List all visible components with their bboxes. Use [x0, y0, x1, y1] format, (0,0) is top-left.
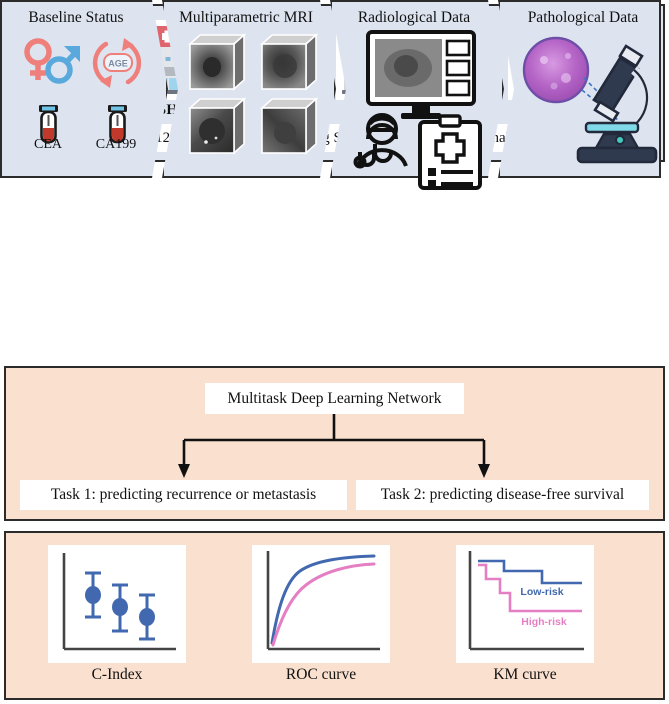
result-card-km: Low-risk High-risk	[456, 545, 594, 663]
clipboard-icon	[420, 116, 480, 188]
c-index-chart	[48, 545, 186, 663]
mri-cube-icon	[262, 99, 316, 153]
network-panel: Multitask Deep Learning Network Task 1: …	[4, 366, 665, 521]
doctor-icon	[356, 115, 407, 167]
result-card-roc	[252, 545, 390, 663]
results-panel: C-Index ROC curve Low-risk High-risk KM …	[4, 531, 665, 700]
result-label-roc: ROC curve	[232, 666, 410, 684]
result-label-c-index: C-Index	[28, 666, 206, 684]
task-box-2: Task 2: predicting disease-free survival	[356, 480, 649, 510]
km-legend-low-risk: Low-risk	[520, 586, 563, 598]
km-legend-high-risk: High-risk	[521, 616, 567, 628]
age-icon: AGE	[95, 38, 139, 88]
mri-cube-icon	[190, 99, 244, 153]
km-chart: Low-risk High-risk	[456, 545, 594, 663]
marker-label-ca199: CA199	[76, 137, 156, 153]
mri-cubes	[186, 30, 326, 160]
data-source-title-pathology: Pathological Data	[505, 9, 661, 27]
data-source-title-radiology: Radiological Data	[332, 9, 496, 27]
roc-chart	[252, 545, 390, 663]
task-label-1: Task 1: predicting recurrence or metasta…	[51, 486, 316, 504]
result-label-km: KM curve	[436, 666, 614, 684]
data-source-title-baseline: Baseline Status	[0, 9, 152, 27]
gender-icon	[27, 41, 80, 81]
data-source-title-mri: Multiparametric MRI	[164, 9, 328, 27]
tissue-sample-icon	[524, 38, 588, 102]
radiology-icons	[348, 28, 498, 168]
monitor-icon	[368, 32, 474, 119]
result-card-c-index	[48, 545, 186, 663]
svg-text:AGE: AGE	[108, 59, 128, 69]
task-box-1: Task 1: predicting recurrence or metasta…	[20, 480, 347, 510]
mri-cube-icon	[262, 35, 316, 89]
microscope-icon	[578, 46, 656, 162]
mri-cube-icon	[190, 35, 244, 89]
task-label-2: Task 2: predicting disease-free survival	[381, 486, 624, 504]
pathology-icons	[508, 28, 660, 168]
